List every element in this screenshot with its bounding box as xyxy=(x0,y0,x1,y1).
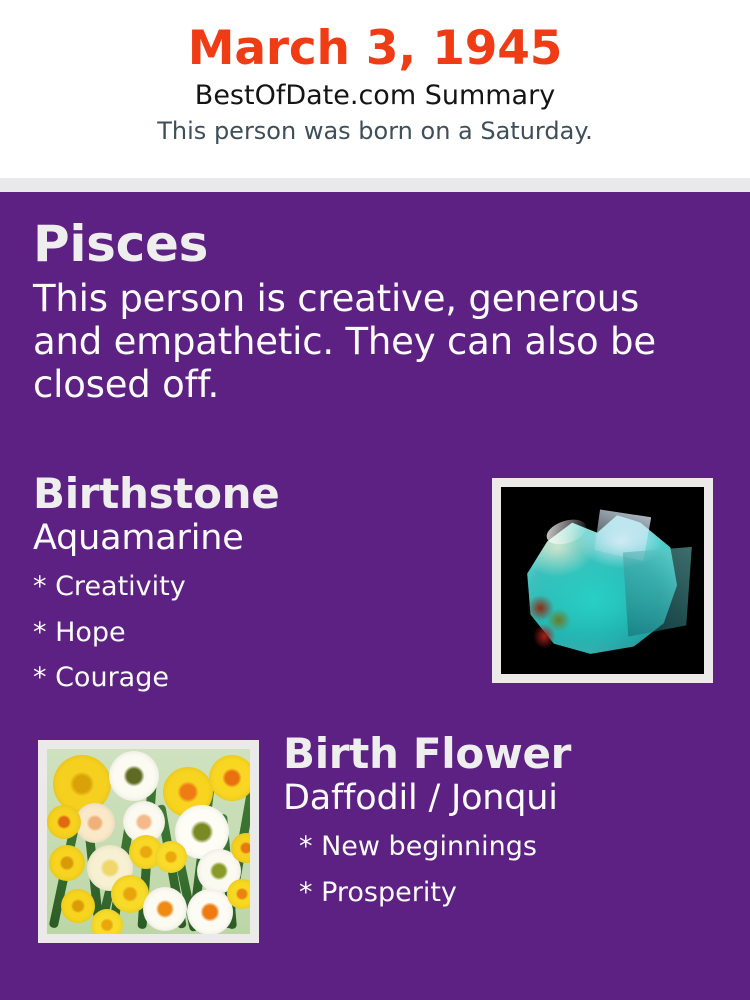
list-item: * Hope xyxy=(33,610,463,655)
birthstone-section: Birthstone Aquamarine * Creativity * Hop… xyxy=(33,470,463,700)
crystal-facet-right xyxy=(623,547,692,641)
flower-bloom xyxy=(91,909,123,934)
flower-bloom xyxy=(109,751,159,801)
flower-bloom xyxy=(61,889,95,923)
header-divider xyxy=(0,178,750,192)
birth-flower-image-frame xyxy=(38,740,259,943)
header: March 3, 1945 BestOfDate.com Summary Thi… xyxy=(0,0,750,178)
birth-flower-trait-list: * New beginnings * Prosperity xyxy=(283,818,733,915)
flower-bloom xyxy=(75,803,115,843)
list-item: * Courage xyxy=(33,655,463,700)
zodiac-section: Pisces This person is creative, generous… xyxy=(33,216,701,407)
list-item: * Creativity xyxy=(33,564,463,609)
birthstone-name: Aquamarine xyxy=(33,517,463,558)
birthstone-title: Birthstone xyxy=(33,470,463,517)
site-name-subtitle: BestOfDate.com Summary xyxy=(0,73,750,111)
flower-bloom xyxy=(47,805,81,839)
flower-bloom xyxy=(209,755,250,801)
birth-flower-name: Daffodil / Jonqui xyxy=(283,777,733,818)
zodiac-sign-title: Pisces xyxy=(33,216,701,272)
aquamarine-crystal-photo xyxy=(501,487,704,674)
flower-bloom xyxy=(143,887,187,931)
birthstone-image-frame xyxy=(492,478,713,683)
page-title-date: March 3, 1945 xyxy=(0,0,750,73)
list-item: * Prosperity xyxy=(299,870,733,915)
daffodil-flowers-photo xyxy=(47,749,250,934)
flower-bloom xyxy=(49,845,85,881)
crystal-inclusion-matrix xyxy=(521,588,586,655)
birth-flower-section: Birth Flower Daffodil / Jonqui * New beg… xyxy=(283,730,733,915)
birth-flower-title: Birth Flower xyxy=(283,730,733,777)
birth-weekday-note: This person was born on a Saturday. xyxy=(0,111,750,144)
daffodil-cluster-art xyxy=(47,749,250,934)
flower-bloom xyxy=(155,841,187,873)
summary-card: March 3, 1945 BestOfDate.com Summary Thi… xyxy=(0,0,750,1000)
flower-bloom xyxy=(187,889,233,934)
flower-bloom xyxy=(227,879,250,909)
list-item: * New beginnings xyxy=(299,824,733,869)
zodiac-description: This person is creative, generous and em… xyxy=(33,272,701,407)
birthstone-trait-list: * Creativity * Hope * Courage xyxy=(33,558,463,700)
